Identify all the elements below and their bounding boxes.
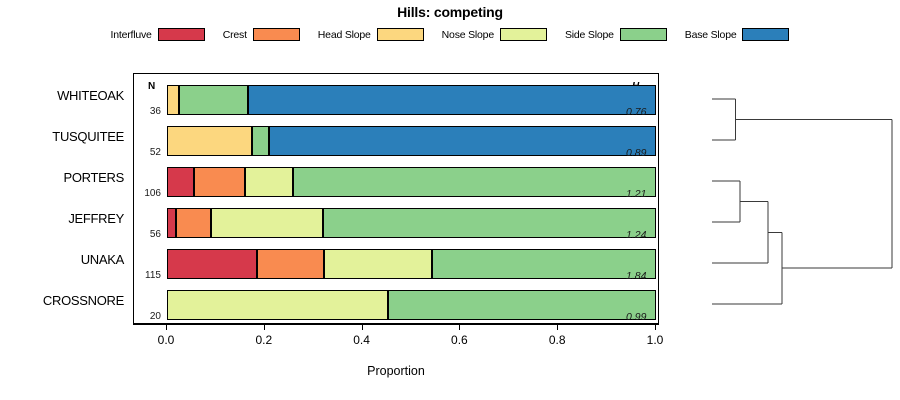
- legend-item-label: Base Slope: [685, 29, 737, 41]
- x-axis-tick-label: 0.4: [353, 333, 370, 347]
- n-value-crossnore: 20: [134, 311, 161, 322]
- y-axis-label-porters: PORTERS: [63, 170, 124, 185]
- stacked-bar-unaka: [167, 249, 656, 279]
- legend-color-swatch: [253, 28, 300, 41]
- h-value-whiteoak: 0.76: [626, 106, 646, 118]
- bar-segment-side-slope: [323, 208, 656, 238]
- bar-segment-nose-slope: [245, 167, 293, 197]
- legend-item-side-slope: Side Slope: [565, 28, 667, 41]
- legend-item-interfluve: Interfluve: [111, 28, 205, 41]
- x-axis-tick-label: 0.0: [158, 333, 175, 347]
- x-axis-tick: [557, 324, 558, 330]
- bar-segment-interfluve: [167, 208, 176, 238]
- stacked-bar-crossnore: [167, 290, 656, 320]
- h-value-tusquitee: 0.89: [626, 147, 646, 159]
- y-axis-label-whiteoak: WHITEOAK: [57, 88, 124, 103]
- stacked-bar-porters: [167, 167, 656, 197]
- dendrogram-svg: [660, 73, 900, 324]
- bar-segment-nose-slope: [324, 249, 432, 279]
- bar-segment-interfluve: [167, 167, 194, 197]
- n-value-unaka: 115: [134, 270, 161, 281]
- bar-segment-crest: [257, 249, 324, 279]
- bar-segment-side-slope: [432, 249, 656, 279]
- legend: InterfluveCrestHead SlopeNose SlopeSide …: [0, 28, 900, 41]
- x-axis-tick-label: 1.0: [647, 333, 664, 347]
- n-value-jeffrey: 56: [134, 229, 161, 240]
- x-axis-line: [133, 324, 659, 325]
- stacked-bar-tusquitee: [167, 126, 656, 156]
- bar-segment-side-slope: [388, 290, 656, 320]
- chart-title: Hills: competing: [0, 4, 900, 20]
- plot-panel: NH360.76520.891061.21561.241151.84200.99: [133, 73, 659, 324]
- x-axis-tick: [459, 324, 460, 330]
- x-axis-tick-label: 0.8: [549, 333, 566, 347]
- y-axis-labels: WHITEOAKTUSQUITEEPORTERSJEFFREYUNAKACROS…: [0, 73, 128, 324]
- x-axis-tick-label: 0.2: [255, 333, 272, 347]
- legend-color-swatch: [742, 28, 789, 41]
- bar-segment-side-slope: [252, 126, 270, 156]
- x-axis-tick: [655, 324, 656, 330]
- stacked-bar-jeffrey: [167, 208, 656, 238]
- bar-segment-base-slope: [248, 85, 656, 115]
- bar-segment-nose-slope: [211, 208, 324, 238]
- x-axis-tick-label: 0.6: [451, 333, 468, 347]
- legend-item-label: Head Slope: [318, 29, 371, 41]
- n-value-porters: 106: [134, 188, 161, 199]
- h-value-porters: 1.21: [626, 188, 646, 200]
- legend-color-swatch: [500, 28, 547, 41]
- legend-item-head-slope: Head Slope: [318, 28, 424, 41]
- legend-item-crest: Crest: [223, 28, 300, 41]
- legend-item-label: Side Slope: [565, 29, 614, 41]
- x-axis: 0.00.20.40.60.81.0: [133, 324, 659, 354]
- x-axis-tick: [166, 324, 167, 330]
- dendrogram: [660, 73, 900, 324]
- x-axis-tick: [264, 324, 265, 330]
- y-axis-label-jeffrey: JEFFREY: [68, 211, 124, 226]
- bar-segment-interfluve: [167, 249, 257, 279]
- legend-item-label: Crest: [223, 29, 247, 41]
- n-value-tusquitee: 52: [134, 147, 161, 158]
- legend-color-swatch: [158, 28, 205, 41]
- bar-segment-nose-slope: [167, 290, 388, 320]
- bar-segment-crest: [176, 208, 210, 238]
- chart-canvas: Hills: competing InterfluveCrestHead Slo…: [0, 0, 900, 400]
- h-value-crossnore: 0.99: [626, 311, 646, 323]
- x-axis-tick: [362, 324, 363, 330]
- y-axis-label-crossnore: CROSSNORE: [43, 293, 124, 308]
- legend-color-swatch: [620, 28, 667, 41]
- legend-item-label: Interfluve: [111, 29, 152, 41]
- y-axis-label-tusquitee: TUSQUITEE: [52, 129, 124, 144]
- bar-segment-side-slope: [293, 167, 656, 197]
- x-axis-title: Proportion: [133, 364, 659, 378]
- bar-segment-head-slope: [167, 85, 179, 115]
- bar-segment-head-slope: [167, 126, 252, 156]
- bar-segment-side-slope: [179, 85, 248, 115]
- h-value-unaka: 1.84: [626, 270, 646, 282]
- legend-item-nose-slope: Nose Slope: [442, 28, 547, 41]
- bar-segment-crest: [194, 167, 245, 197]
- legend-item-base-slope: Base Slope: [685, 28, 790, 41]
- stacked-bar-whiteoak: [167, 85, 656, 115]
- y-axis-label-unaka: UNAKA: [81, 252, 124, 267]
- h-value-jeffrey: 1.24: [626, 229, 646, 241]
- legend-item-label: Nose Slope: [442, 29, 494, 41]
- n-value-whiteoak: 36: [134, 106, 161, 117]
- n-column-header: N: [148, 81, 155, 92]
- legend-color-swatch: [377, 28, 424, 41]
- bar-segment-base-slope: [269, 126, 656, 156]
